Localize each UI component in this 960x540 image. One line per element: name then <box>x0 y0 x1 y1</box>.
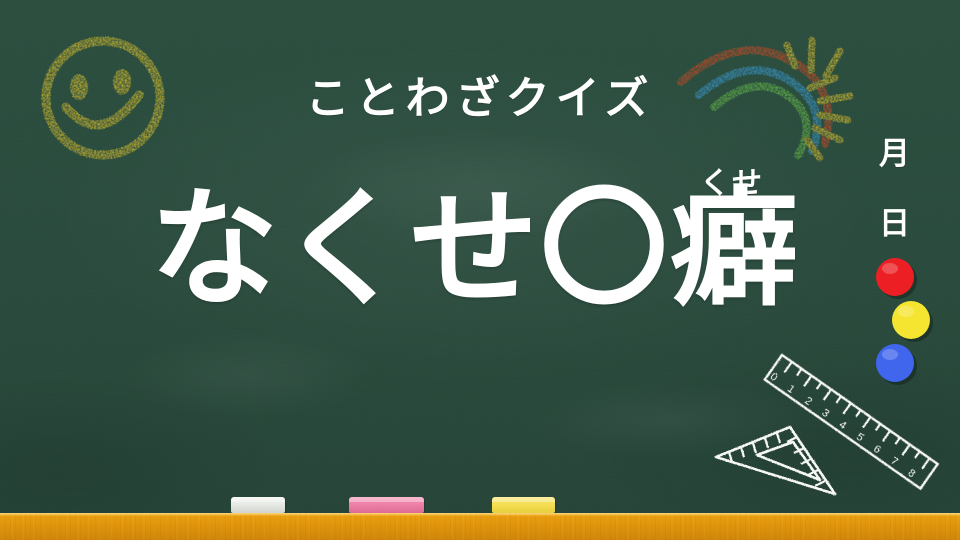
ledge-top-edge <box>0 513 960 516</box>
quiz-title: ことわざクイズ <box>0 62 960 126</box>
chalk-ledge <box>0 513 960 540</box>
main-answer-text: なくせ〇癖 <box>150 186 800 314</box>
date-month-label: 月 <box>879 128 910 173</box>
slide-canvas: 0 1 2 3 4 5 6 7 8 <box>0 0 960 540</box>
date-day-label: 日 <box>879 198 910 243</box>
yellow-chalk[interactable] <box>492 497 555 513</box>
yellow-magnet[interactable] <box>892 301 930 339</box>
red-magnet[interactable] <box>876 258 914 296</box>
blue-magnet[interactable] <box>876 344 914 382</box>
pink-chalk[interactable] <box>349 497 424 513</box>
ledge-wood-grain <box>0 513 960 540</box>
white-chalk[interactable] <box>231 497 285 513</box>
